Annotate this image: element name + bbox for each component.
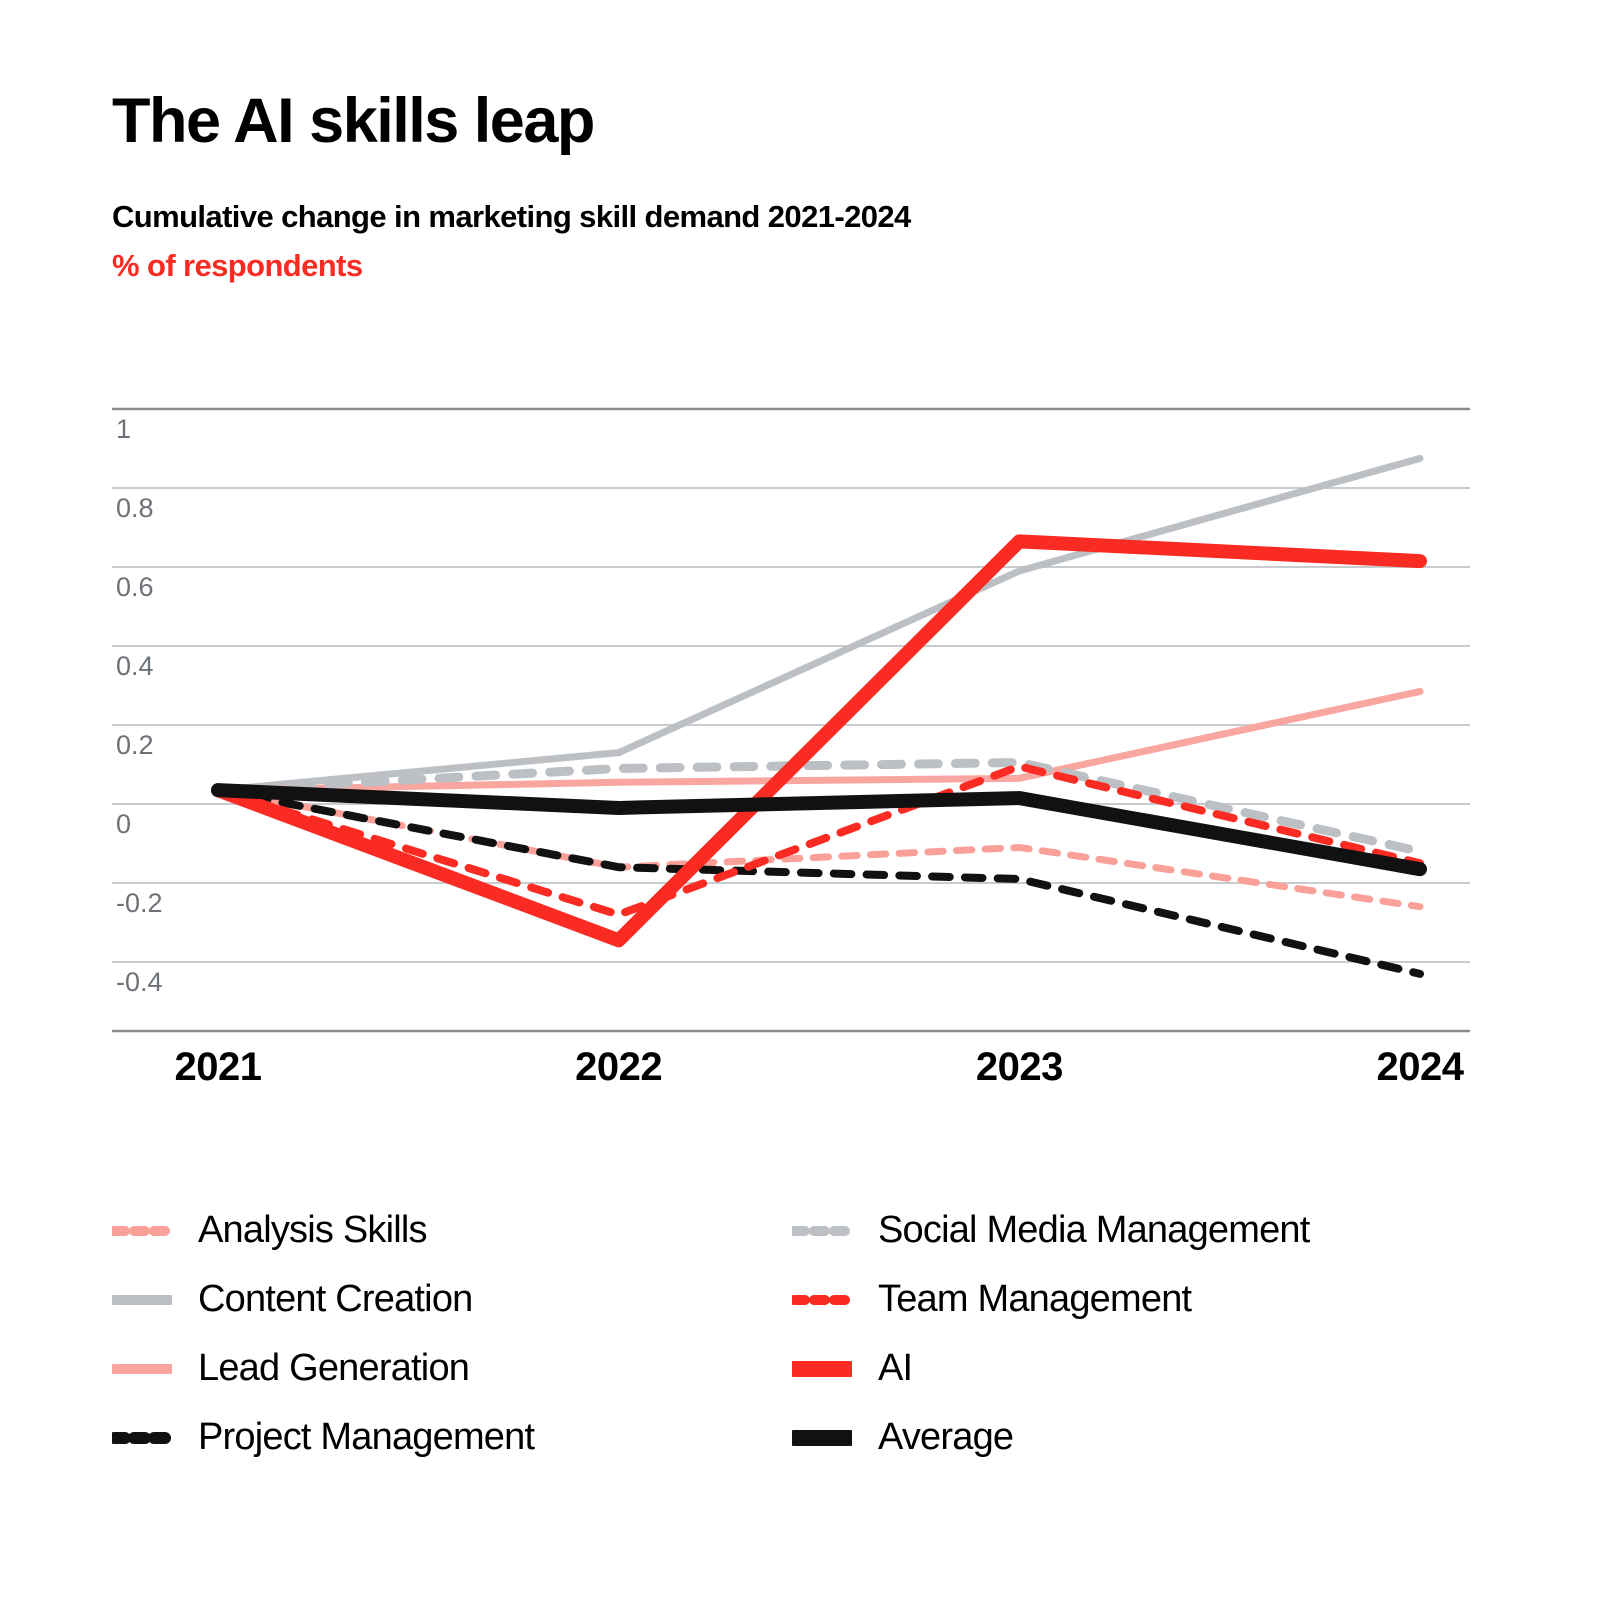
legend-item[interactable]: Average: [792, 1403, 1472, 1472]
y-axis-tick-label: -0.2: [116, 888, 163, 918]
legend-item[interactable]: Social Media Management: [792, 1196, 1472, 1265]
legend-item[interactable]: Analysis Skills: [112, 1196, 792, 1265]
legend-item-label: Lead Generation: [198, 1347, 469, 1390]
legend-swatch-icon: [792, 1289, 852, 1311]
legend-item[interactable]: Team Management: [792, 1265, 1472, 1334]
x-axis-tick-label: 2022: [575, 1045, 662, 1089]
chart-legend: Analysis SkillsSocial Media ManagementCo…: [112, 1196, 1512, 1472]
chart-page: The AI skills leap Cumulative change in …: [0, 0, 1600, 1603]
legend-swatch-icon: [792, 1427, 852, 1449]
y-axis-tick-label: 0.4: [116, 651, 154, 681]
legend-item[interactable]: Lead Generation: [112, 1334, 792, 1403]
legend-item[interactable]: Content Creation: [112, 1265, 792, 1334]
legend-swatch-icon: [112, 1289, 172, 1311]
chart-plot-area: 10.80.60.40.20-0.2-0.4 2021202220232024: [0, 0, 1600, 1120]
series-lines: [218, 458, 1420, 973]
legend-item-label: Social Media Management: [878, 1209, 1310, 1252]
legend-swatch-icon: [792, 1220, 852, 1242]
y-axis-tick-label: 0.6: [116, 572, 154, 602]
line-chart-svg: 10.80.60.40.20-0.2-0.4 2021202220232024: [0, 0, 1600, 1120]
legend-item-label: Team Management: [878, 1278, 1191, 1321]
x-axis-tick-label: 2023: [976, 1045, 1063, 1089]
y-axis-tick-labels: 10.80.60.40.20-0.2-0.4: [116, 414, 163, 997]
legend-item-label: Analysis Skills: [198, 1209, 427, 1252]
legend-item[interactable]: Project Management: [112, 1403, 792, 1472]
legend-swatch-icon: [792, 1358, 852, 1380]
x-axis-tick-label: 2021: [175, 1045, 262, 1089]
legend-item-label: AI: [878, 1347, 912, 1390]
y-axis-tick-label: 0.8: [116, 493, 154, 523]
y-axis-tick-label: -0.4: [116, 967, 163, 997]
legend-swatch-icon: [112, 1427, 172, 1449]
legend-item[interactable]: AI: [792, 1334, 1472, 1403]
legend-item-label: Project Management: [198, 1416, 534, 1459]
y-axis-tick-label: 0: [116, 809, 131, 839]
y-axis-tick-label: 0.2: [116, 730, 154, 760]
x-axis-tick-labels: 2021202220232024: [175, 1045, 1465, 1089]
legend-swatch-icon: [112, 1220, 172, 1242]
y-axis-tick-label: 1: [116, 414, 131, 444]
legend-item-label: Average: [878, 1416, 1013, 1459]
legend-swatch-icon: [112, 1358, 172, 1380]
legend-item-label: Content Creation: [198, 1278, 472, 1321]
x-axis-tick-label: 2024: [1377, 1045, 1465, 1089]
